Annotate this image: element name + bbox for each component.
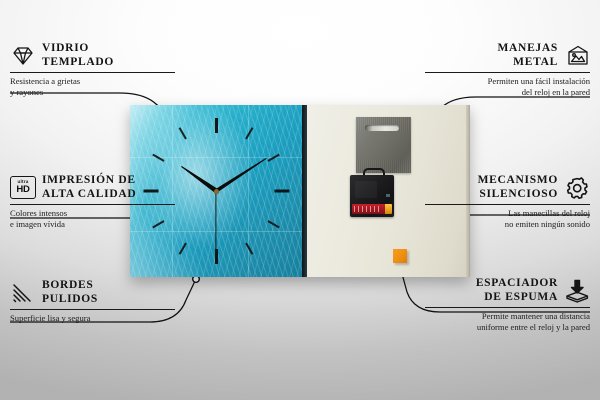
polished-edges-icon (10, 281, 36, 305)
battery-cap (385, 204, 392, 214)
feature-description: Colores intensos e imagen vívida (10, 208, 175, 229)
wall-mount-frame-icon (564, 44, 590, 68)
feature-vidrio-templado: VIDRIO TEMPLADO Resistencia a grietas y … (10, 42, 175, 97)
feature-impresion-alta-calidad: ultra HD IMPRESIÓN DE ALTA CALIDAD Color… (10, 174, 175, 229)
clock-mechanism (350, 173, 394, 217)
feature-description: Permiten una fácil instalación del reloj… (425, 76, 590, 97)
feature-mecanismo-silencioso: MECANISMO SILENCIOSO Las manecillas del … (425, 174, 590, 229)
foam-spacer-pad (393, 249, 407, 263)
feature-manejas-metal: MANEJAS METAL Permiten una fácil instala… (425, 42, 590, 97)
diamond-icon (10, 44, 36, 68)
battery (352, 204, 392, 214)
feature-description: Permite mantener una distancia uniforme … (425, 311, 590, 332)
feature-title: BORDES PULIDOS (42, 279, 98, 306)
ultra-hd-large-text: HD (16, 185, 29, 195)
feature-divider (425, 307, 590, 308)
ultra-hd-badge: ultra HD (10, 176, 36, 199)
ultra-hd-icon: ultra HD (10, 176, 36, 200)
feature-head: BORDES PULIDOS (10, 279, 175, 306)
mechanism-led (386, 194, 390, 197)
feature-description: Superficie lisa y segura (10, 313, 175, 324)
feature-divider (425, 72, 590, 73)
feature-espaciador-espuma: ESPACIADOR DE ESPUMA Permite mantener un… (425, 277, 590, 332)
gear-icon (564, 176, 590, 200)
feature-title: IMPRESIÓN DE ALTA CALIDAD (42, 174, 136, 201)
feature-title: MANEJAS METAL (498, 42, 559, 69)
product-clock (130, 105, 470, 277)
feature-bordes-pulidos: BORDES PULIDOS Superficie lisa y segura (10, 279, 175, 324)
feature-description: Las manecillas del reloj no emiten ningú… (425, 208, 590, 229)
hour-tick-5 (245, 242, 253, 254)
feature-description: Resistencia a grietas y rayones (10, 76, 175, 97)
feature-title: ESPACIADOR DE ESPUMA (476, 277, 558, 304)
hanger-slot (365, 125, 399, 131)
mechanism-body (350, 175, 394, 217)
feature-divider (10, 309, 175, 310)
feature-head: VIDRIO TEMPLADO (10, 42, 175, 69)
battery-label-stripes (354, 206, 382, 212)
second-hand (215, 191, 216, 257)
hour-tick-7 (179, 242, 187, 254)
hour-tick-3 (275, 190, 290, 193)
hour-tick-12 (215, 118, 218, 133)
infographic-stage: VIDRIO TEMPLADO Resistencia a grietas y … (0, 0, 600, 400)
feature-head: ultra HD IMPRESIÓN DE ALTA CALIDAD (10, 174, 175, 201)
metal-hanger-plate (356, 117, 411, 173)
feature-head: MECANISMO SILENCIOSO (425, 174, 590, 201)
feature-head: MANEJAS METAL (425, 42, 590, 69)
feature-divider (425, 204, 590, 205)
clock-center-pin (214, 189, 219, 194)
foam-spacer-icon (564, 279, 590, 303)
feature-divider (10, 204, 175, 205)
feature-title: VIDRIO TEMPLADO (42, 42, 114, 69)
feature-head: ESPACIADOR DE ESPUMA (425, 277, 590, 304)
feature-title: MECANISMO SILENCIOSO (478, 174, 558, 201)
hour-tick-4 (267, 220, 279, 228)
feature-divider (10, 72, 175, 73)
